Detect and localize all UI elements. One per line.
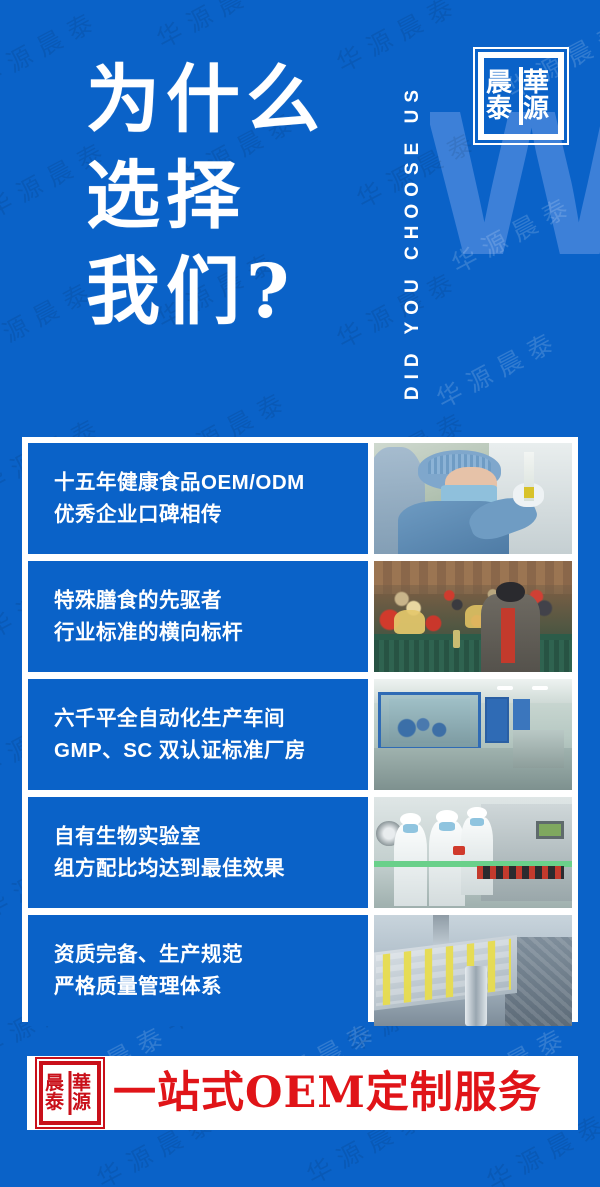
- brand-seal-logo-icon: 晨泰 華源: [39, 1061, 101, 1125]
- feature-line-1: 特殊膳食的先驱者: [54, 585, 368, 617]
- vertical-english-subtitle: DID YOU CHOOSE US: [396, 18, 430, 400]
- feature-row: 资质完备、生产规范 严格质量管理体系: [28, 915, 572, 1026]
- poster-canvas: WHY 华源晨泰 华源晨泰 华源晨泰 华源晨泰 华源晨泰 华源晨泰 华源晨泰 华…: [0, 0, 600, 1187]
- production-line-workers-photo: [374, 797, 572, 908]
- bottom-cta-banner[interactable]: 晨泰 華源 一站式OEM定制服务: [22, 1056, 578, 1130]
- vertical-english-text: DID YOU CHOOSE US: [402, 83, 424, 400]
- cta-slogan: 一站式OEM定制服务: [113, 1072, 542, 1115]
- feature-row: 特殊膳食的先驱者 行业标准的横向标杆: [28, 561, 572, 672]
- feature-text-box[interactable]: 资质完备、生产规范 严格质量管理体系: [28, 915, 368, 1026]
- tablet-packaging-photo: [374, 915, 572, 1026]
- seal-chars-left: 晨泰: [484, 68, 521, 124]
- watermark-text: 华源晨泰: [150, 0, 287, 56]
- feature-text-box[interactable]: 自有生物实验室 组方配比均达到最佳效果: [28, 797, 368, 908]
- seal-chars-right: 華源: [521, 68, 558, 124]
- background-why-decoration: WHY: [430, 112, 600, 442]
- feature-line-2: 优秀企业口碑相传: [54, 499, 368, 531]
- conference-audience-photo: [374, 561, 572, 672]
- page-title-line-1: 为什么: [86, 52, 326, 148]
- page-title-line-2: 选择: [86, 148, 326, 244]
- watermark-text: 华源晨泰: [430, 320, 567, 416]
- feature-line-1: 六千平全自动化生产车间: [54, 703, 368, 735]
- page-title-line-3: 我们?: [86, 244, 326, 340]
- seal-chars-left: 晨泰: [43, 1072, 70, 1114]
- lab-technician-photo: [374, 443, 572, 554]
- seal-divider: [519, 67, 523, 125]
- cleanroom-corridor-photo: [374, 679, 572, 790]
- feature-text-box[interactable]: 十五年健康食品OEM/ODM 优秀企业口碑相传: [28, 443, 368, 554]
- feature-line-2: 严格质量管理体系: [54, 971, 368, 1003]
- feature-line-2: 行业标准的横向标杆: [54, 617, 368, 649]
- seal-divider: [69, 1071, 72, 1115]
- feature-line-1: 资质完备、生产规范: [54, 939, 368, 971]
- seal-chars-right: 華源: [70, 1072, 97, 1114]
- brand-seal-logo-icon: 晨泰 華源: [478, 52, 564, 140]
- feature-line-2: GMP、SC 双认证标准厂房: [54, 735, 368, 767]
- page-title: 为什么 选择 我们?: [86, 52, 326, 340]
- feature-row: 十五年健康食品OEM/ODM 优秀企业口碑相传: [28, 443, 572, 554]
- features-frame: 十五年健康食品OEM/ODM 优秀企业口碑相传 特殊膳食的先驱者 行业标准的横向…: [22, 437, 578, 1022]
- watermark-text: 华源晨泰: [445, 185, 582, 281]
- feature-row: 六千平全自动化生产车间 GMP、SC 双认证标准厂房: [28, 679, 572, 790]
- feature-line-1: 自有生物实验室: [54, 821, 368, 853]
- feature-text-box[interactable]: 六千平全自动化生产车间 GMP、SC 双认证标准厂房: [28, 679, 368, 790]
- feature-line-1: 十五年健康食品OEM/ODM: [54, 467, 368, 499]
- feature-row: 自有生物实验室 组方配比均达到最佳效果: [28, 797, 572, 908]
- feature-line-2: 组方配比均达到最佳效果: [54, 853, 368, 885]
- feature-text-box[interactable]: 特殊膳食的先驱者 行业标准的横向标杆: [28, 561, 368, 672]
